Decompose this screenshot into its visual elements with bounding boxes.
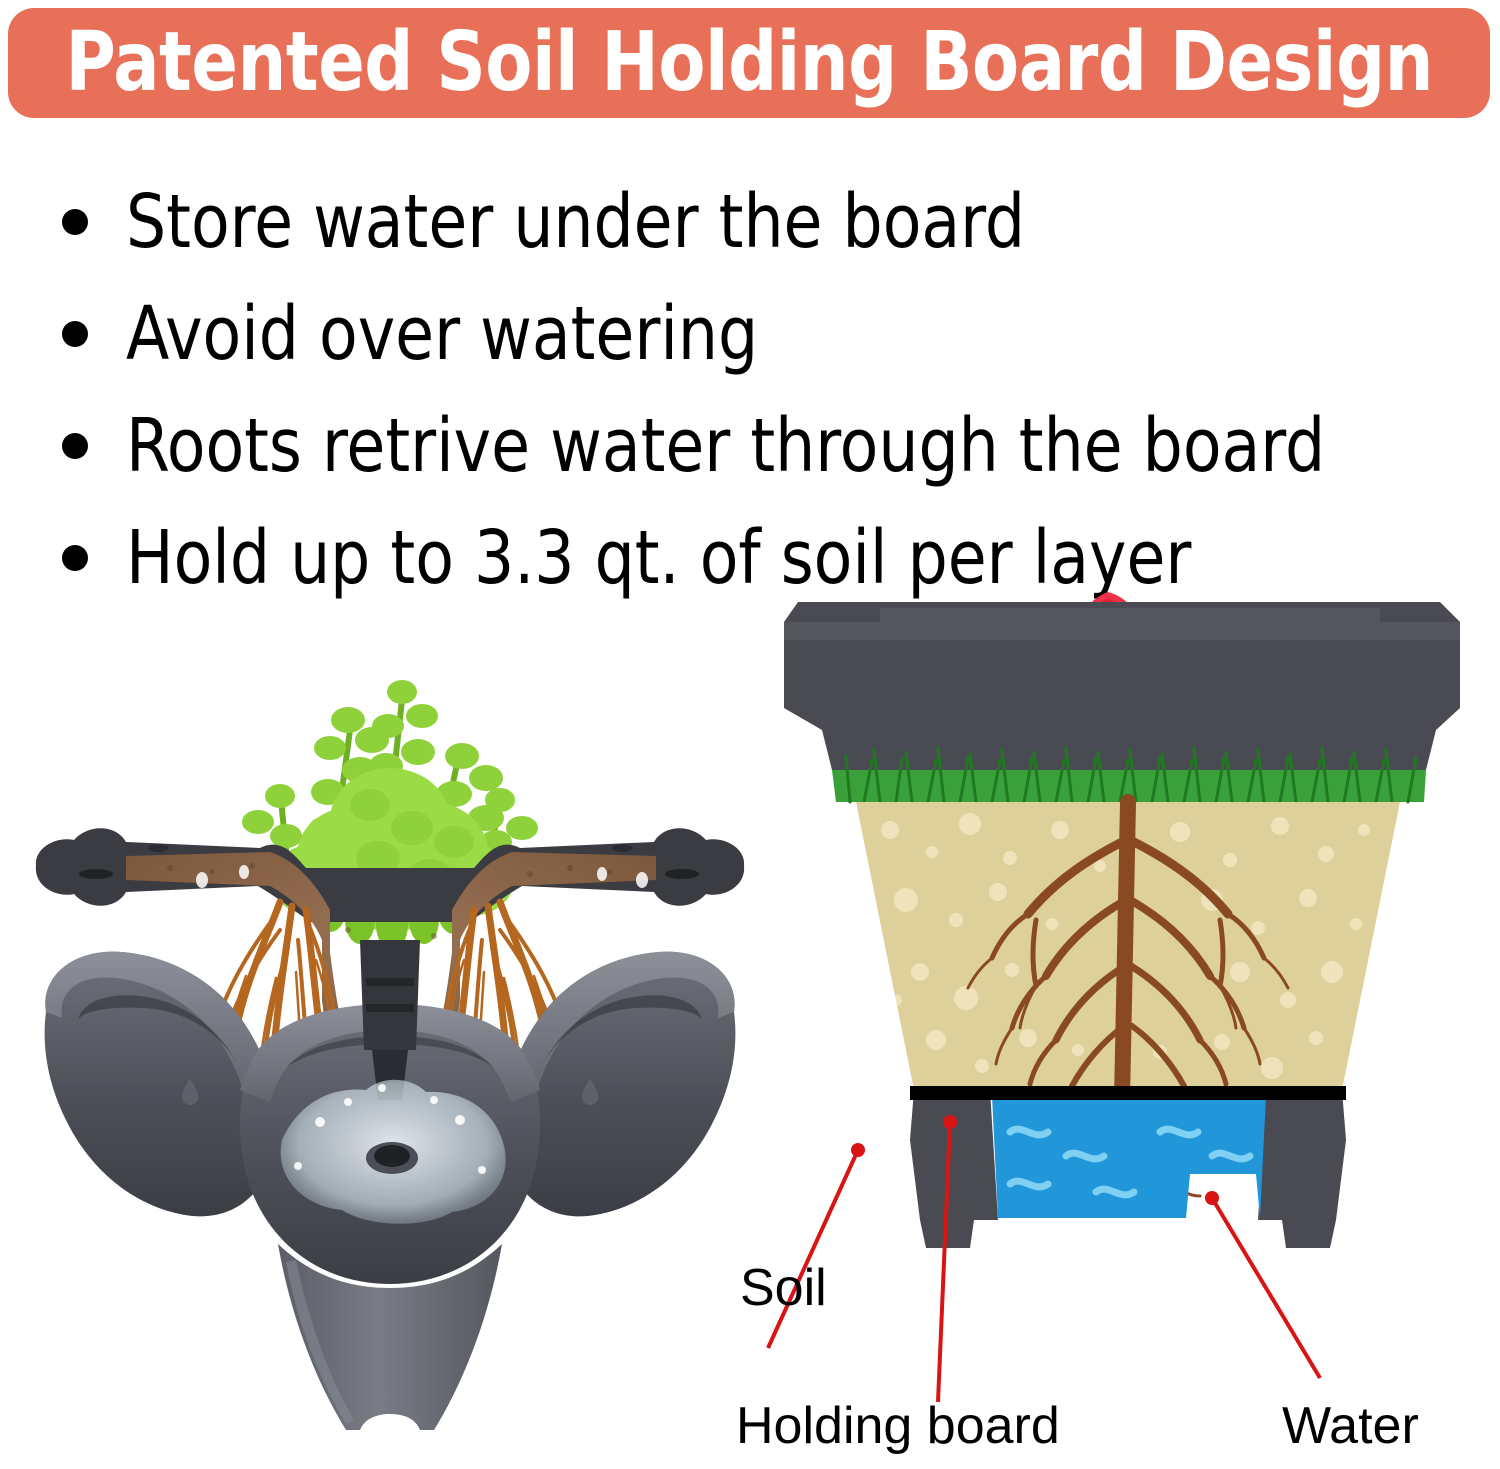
bullet-dot-icon (62, 209, 88, 235)
callout-label-water: Water (1282, 1400, 1419, 1452)
cross-section-diagram (760, 580, 1500, 1469)
feature-bullet-list: Store water under the board Avoid over w… (52, 166, 1452, 614)
figures-area (0, 580, 1500, 1469)
bullet-dot-icon (62, 545, 88, 571)
callout-dot-soil (851, 1143, 865, 1157)
callout-dot-holding-board (943, 1115, 957, 1129)
pot-rim-icon (784, 602, 1460, 770)
callout-dot-water (1205, 1191, 1219, 1205)
water-layer (992, 1096, 1266, 1218)
bullet-dot-icon (62, 321, 88, 347)
list-item: Store water under the board (52, 166, 1452, 278)
planter-product-photo (30, 580, 750, 1469)
callout-label-holding-board: Holding board (736, 1400, 1060, 1452)
list-item: Roots retrive water through the board (52, 390, 1452, 502)
holding-board-line (910, 1086, 1346, 1100)
header-banner: Patented Soil Holding Board Design (8, 8, 1490, 118)
list-item: Avoid over watering (52, 278, 1452, 390)
planter-body-icon (45, 940, 736, 1430)
list-item-label: Roots retrive water through the board (126, 409, 1325, 483)
bullet-dot-icon (62, 433, 88, 459)
cross-section-illustration (760, 580, 1500, 1469)
callout-label-soil: Soil (740, 1262, 827, 1314)
list-item-label: Store water under the board (126, 185, 1025, 259)
page-title: Patented Soil Holding Board Design (65, 22, 1433, 104)
infographic-page: Patented Soil Holding Board Design Store… (0, 0, 1500, 1469)
list-item-label: Avoid over watering (126, 297, 758, 371)
planter-photo-illustration (30, 580, 750, 1469)
